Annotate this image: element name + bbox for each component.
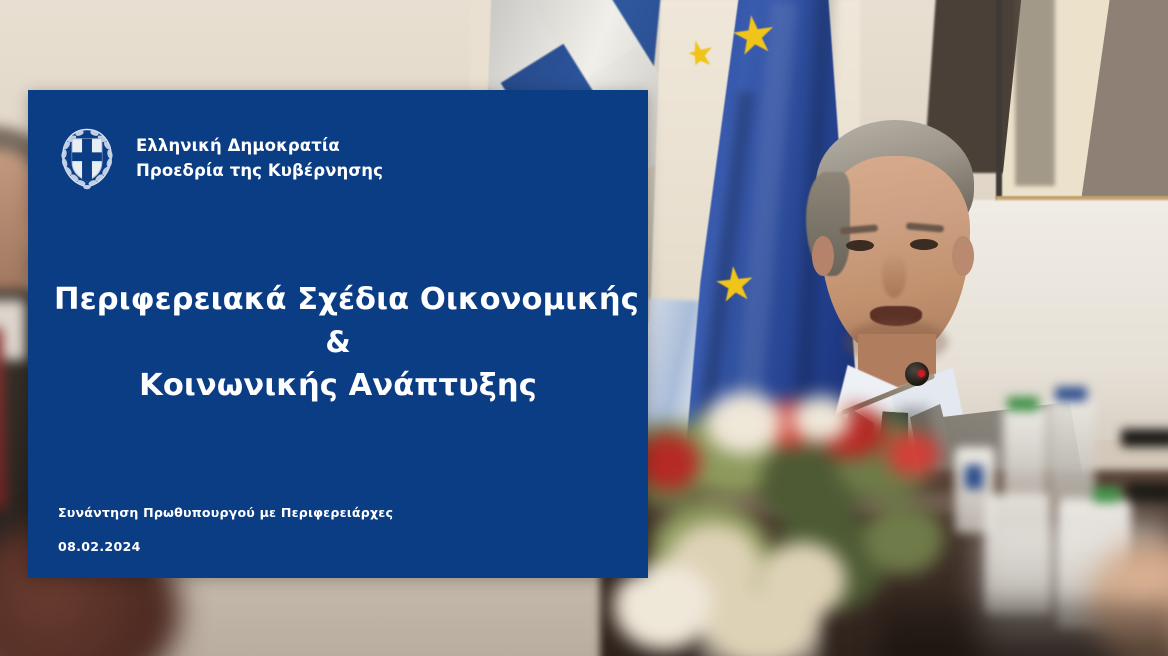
microphone-head [905,362,929,386]
title-panel: Ελληνική Δημοκρατία Προεδρία της Κυβέρνη… [28,90,648,578]
table-object [1121,429,1168,447]
bottle-label-icon [965,465,983,489]
event-label: Συνάντηση Πρωθυπουργού με Περιφερειάρχες [58,505,393,520]
eu-flag-star [681,37,717,73]
speaker-eye [910,239,938,250]
brand-text: Ελληνική Δημοκρατία Προεδρία της Κυβέρνη… [136,135,383,182]
title-line-1: Περιφερειακά Σχέδια Οικονομικής [54,278,622,322]
table-object [1127,483,1168,503]
red-flower [886,432,940,476]
foliage [864,504,944,574]
brand-line-country: Ελληνική Δημοκρατία [136,135,383,157]
slide-meta: Συνάντηση Πρωθυπουργού με Περιφερειάρχες… [58,505,393,554]
brand-line-office: Προεδρία της Κυβέρνησης [136,160,383,182]
bottle-cap-icon [1093,487,1121,503]
speaker-ear [952,236,974,276]
slide-title: Περιφερειακά Σχέδια Οικονομικής & Κοινων… [28,278,648,408]
slide-canvas: Ελληνική Δημοκρατία Προεδρία της Κυβέρνη… [0,0,1168,656]
greek-coat-of-arms-icon [56,125,118,191]
foreground-bottom-shadow [880,600,1168,656]
white-flower [706,392,782,454]
title-ampersand: & [54,322,622,364]
bottle-cap-icon [1007,397,1039,411]
speaker-nose [882,252,906,298]
microphone-led-icon [918,370,925,377]
speaker-eye [846,240,874,251]
water-bottle [1049,395,1095,499]
event-date: 08.02.2024 [58,539,393,554]
cream-flower [706,588,816,656]
bottle-cap-icon [1055,387,1087,401]
speaker-ear [812,236,834,276]
title-line-3: Κοινωνικής Ανάπτυξης [54,364,622,408]
white-flower [792,396,850,442]
water-bottle [1003,405,1047,501]
government-brand-lockup: Ελληνική Δημοκρατία Προεδρία της Κυβέρνη… [56,125,383,191]
attendee-shirt [0,300,26,360]
